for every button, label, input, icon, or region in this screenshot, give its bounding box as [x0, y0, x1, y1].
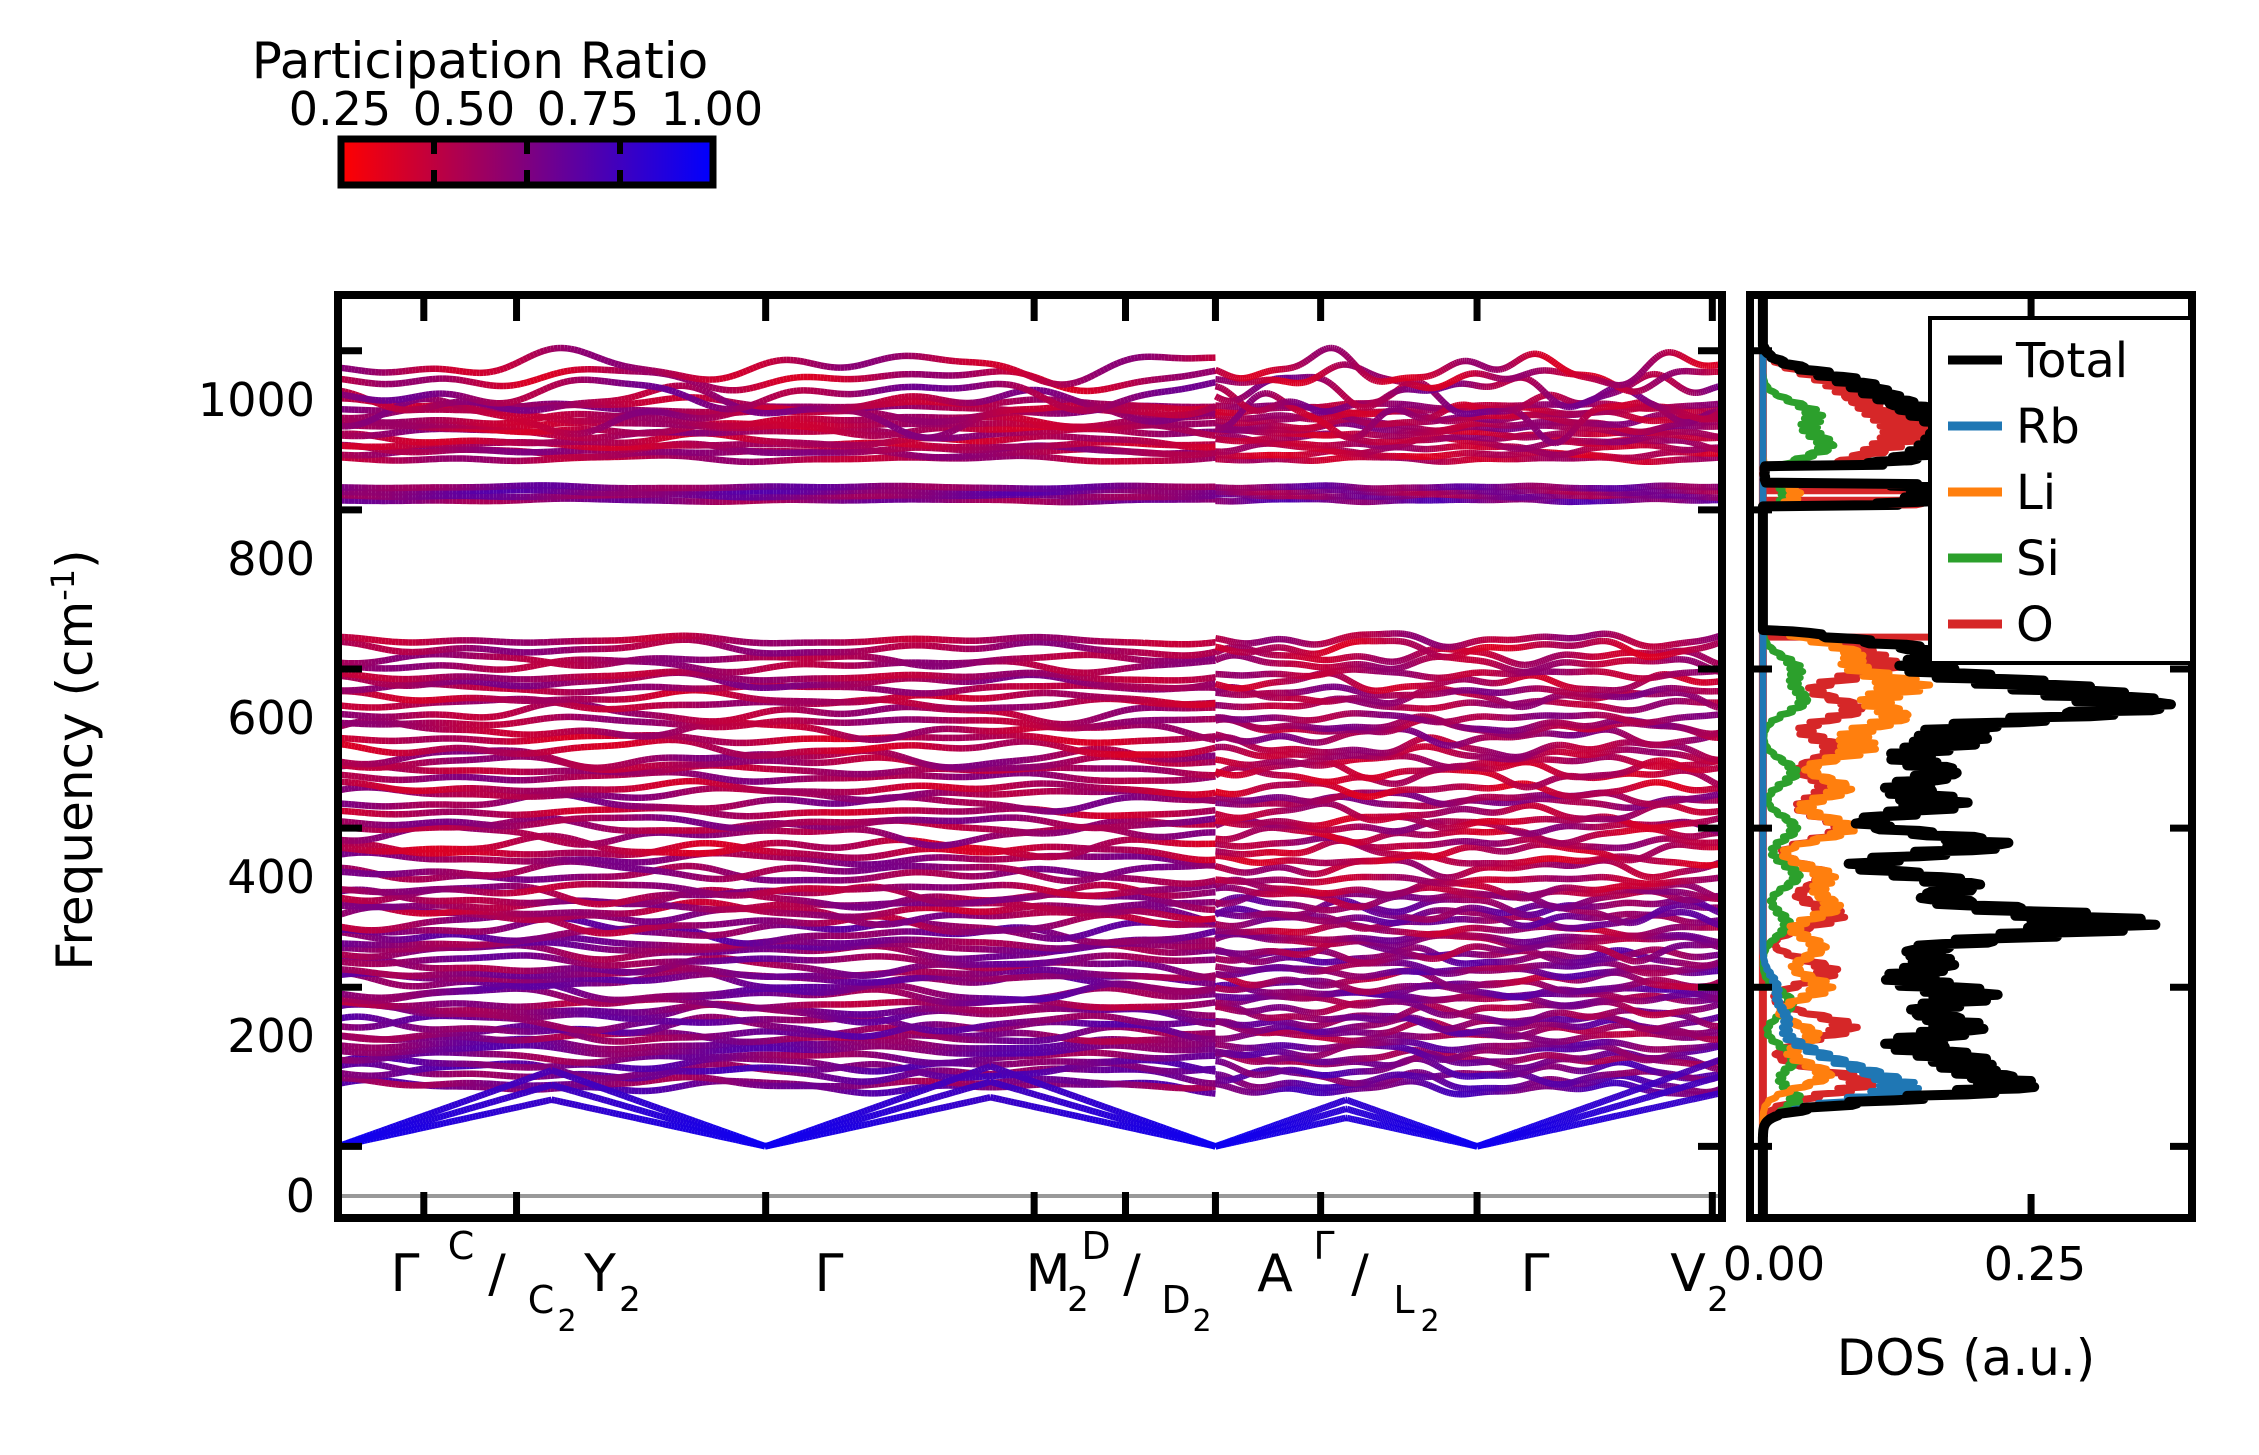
band-segment — [1087, 981, 1090, 982]
band-segment — [567, 1050, 570, 1051]
band-segment — [1182, 1017, 1185, 1018]
band-segment — [891, 1018, 894, 1019]
band-segment — [1094, 986, 1097, 987]
band-segment — [1060, 1069, 1063, 1070]
band-segment — [895, 1018, 898, 1019]
band-segment — [932, 993, 935, 994]
band-segment — [915, 1043, 918, 1044]
band-segment — [1053, 1070, 1056, 1071]
band-segment — [1053, 997, 1056, 998]
band-segment — [902, 1090, 905, 1091]
band-segment — [1134, 1021, 1137, 1022]
band-segment — [551, 1025, 554, 1026]
band-segment — [746, 984, 749, 985]
band-segment — [891, 991, 894, 992]
band-segment — [1145, 993, 1148, 994]
band-segment — [675, 1065, 678, 1066]
band-segment — [1182, 1034, 1185, 1035]
band-segment — [1070, 1034, 1073, 1035]
band-segment — [908, 1014, 911, 1015]
band-segment — [898, 1076, 901, 1077]
band-segment — [888, 1019, 891, 1020]
band-segment — [922, 1033, 925, 1034]
band-segment — [1080, 1032, 1083, 1033]
band-segment — [665, 972, 668, 973]
band-segment — [591, 1039, 594, 1040]
band-segment — [412, 1070, 415, 1071]
band-segment — [912, 1043, 915, 1044]
band-segment — [561, 1027, 564, 1028]
band-segment — [878, 1034, 881, 1035]
band-segment — [395, 1073, 398, 1074]
band-segment — [736, 981, 739, 982]
band-segment — [561, 1043, 564, 1044]
band-panel[interactable] — [338, 295, 1722, 1218]
band-segment — [817, 1075, 820, 1076]
band-segment — [1138, 1067, 1141, 1068]
band-segment — [912, 1088, 915, 1089]
band-segment — [564, 1043, 567, 1044]
band-segment — [578, 1046, 581, 1047]
band-segment — [1192, 1037, 1195, 1038]
band-segment — [915, 1013, 918, 1014]
band-segment — [1205, 1070, 1208, 1071]
band-segment — [375, 1019, 378, 1020]
band-segment — [905, 1025, 908, 1026]
band-segment — [1188, 1066, 1191, 1067]
band-segment — [345, 994, 348, 995]
band-segment — [689, 1067, 692, 1068]
band-segment — [979, 1026, 982, 1027]
band-segment — [837, 1019, 840, 1020]
band-segment — [1077, 1065, 1080, 1066]
band-segment — [1067, 1067, 1070, 1068]
band-segment — [922, 998, 925, 999]
band-segment — [908, 1067, 911, 1068]
band-segment — [905, 994, 908, 995]
band-segment — [567, 1044, 570, 1045]
band-segment — [402, 1072, 405, 1073]
band-segment — [665, 1025, 668, 1026]
band-segment — [1151, 1069, 1154, 1070]
band-segment — [821, 1076, 824, 1077]
band-segment — [530, 1021, 533, 1022]
y-axis-label-group: Frequency (cm-1) — [44, 549, 104, 970]
band-segment — [645, 1031, 648, 1032]
band-segment — [588, 995, 591, 996]
band-segment — [898, 1017, 901, 1018]
band-segment — [540, 991, 543, 992]
band-segment — [1141, 1029, 1144, 1030]
band-segment — [1195, 1021, 1198, 1022]
band-segment — [540, 1023, 543, 1024]
band-segment — [345, 1064, 348, 1065]
band-segment — [895, 1023, 898, 1024]
band-segment — [912, 1014, 915, 1015]
band-segment — [1188, 1019, 1191, 1020]
band-segment — [810, 1074, 813, 1075]
band-segment — [898, 1058, 901, 1059]
band-segment — [1151, 1031, 1154, 1032]
band-segment — [1070, 1067, 1073, 1068]
band-segment — [1145, 1030, 1148, 1031]
band-segment — [1182, 1078, 1185, 1079]
band-segment — [682, 1063, 685, 1064]
band-segment — [392, 1068, 395, 1069]
band-segment — [858, 1030, 861, 1031]
band-segment — [716, 1005, 719, 1006]
band-segment — [1185, 1018, 1188, 1019]
band-segment — [902, 1059, 905, 1060]
band-segment — [389, 983, 392, 984]
band-segment — [345, 1082, 348, 1083]
band-segment — [922, 1029, 925, 1030]
band-segment — [726, 1081, 729, 1082]
y-tick-800: 800 — [227, 532, 315, 586]
band-segment — [557, 1042, 560, 1043]
y-tick-400: 400 — [227, 850, 315, 904]
band-segment — [1087, 1030, 1090, 1031]
band-segment — [908, 1026, 911, 1027]
band-segment — [1050, 1071, 1053, 1072]
band-segment — [392, 1073, 395, 1074]
band-segment — [574, 1045, 577, 1046]
band-segment — [851, 1069, 854, 1070]
band-segment — [399, 1055, 402, 1056]
band-segment — [821, 1016, 824, 1017]
band-segment — [378, 1065, 381, 1066]
band-segment — [372, 1018, 375, 1019]
band-segment — [665, 1066, 668, 1067]
band-segment — [1202, 1092, 1205, 1093]
band-segment — [706, 1003, 709, 1004]
band-segment — [837, 1067, 840, 1068]
band-segment — [1047, 1035, 1050, 1036]
band-segment — [935, 1001, 938, 1002]
band-segment — [571, 1033, 574, 1034]
band-segment — [918, 1012, 921, 1013]
band-segment — [628, 1024, 631, 1025]
band-segment — [1178, 1016, 1181, 1017]
band-segment — [1091, 981, 1094, 982]
band-segment — [915, 1071, 918, 1072]
band-segment — [824, 1033, 827, 1034]
band-segment — [1178, 1064, 1181, 1065]
band-segment — [395, 1056, 398, 1057]
band-segment — [898, 1029, 901, 1030]
band-segment — [932, 1035, 935, 1036]
band-segment — [915, 1028, 918, 1029]
band-segment — [713, 1004, 716, 1005]
band-segment — [726, 978, 729, 979]
band-segment — [378, 980, 381, 981]
band-segment — [743, 983, 746, 984]
band-segment — [399, 1021, 402, 1022]
band-segment — [551, 993, 554, 994]
band-segment — [1091, 1029, 1094, 1030]
band-segment — [632, 1024, 635, 1025]
band-segment — [1124, 990, 1127, 991]
band-segment — [402, 1020, 405, 1021]
band-segment — [1050, 1039, 1053, 1040]
band-segment — [378, 1025, 381, 1026]
band-segment — [935, 1036, 938, 1037]
band-segment — [581, 1036, 584, 1037]
band-segment — [723, 1080, 726, 1081]
band-segment — [591, 996, 594, 997]
band-segment — [1185, 1066, 1188, 1067]
band-segment — [925, 1034, 928, 1035]
band-segment — [935, 993, 938, 994]
band-segment — [824, 1064, 827, 1065]
band-segment — [395, 984, 398, 985]
band-segment — [709, 1004, 712, 1005]
band-segment — [571, 1044, 574, 1045]
band-segment — [1050, 998, 1053, 999]
band-segment — [385, 1024, 388, 1025]
band-segment — [841, 1068, 844, 1069]
band-segment — [895, 1077, 898, 1078]
band-segment — [1141, 1068, 1144, 1069]
band-segment — [1067, 1035, 1070, 1036]
band-segment — [905, 1089, 908, 1090]
band-segment — [1131, 1066, 1134, 1067]
band-segment — [578, 1000, 581, 1001]
band-segment — [1185, 1079, 1188, 1080]
band-segment — [966, 1029, 969, 1030]
band-segment — [942, 1037, 945, 1038]
band-segment — [557, 1027, 560, 1028]
band-segment — [851, 1031, 854, 1032]
colorbar-tick-2: 0.75 — [537, 82, 639, 136]
band-segment — [581, 993, 584, 994]
band-segment — [696, 1018, 699, 1019]
band-segment — [605, 1029, 608, 1030]
band-segment — [547, 1024, 550, 1025]
band-segment — [827, 1077, 830, 1078]
band-segment — [1165, 1030, 1168, 1031]
band-segment — [1138, 992, 1141, 993]
band-segment — [1168, 1062, 1171, 1063]
band-segment — [929, 999, 932, 1000]
band-segment — [891, 1066, 894, 1067]
band-segment — [372, 1081, 375, 1082]
band-segment — [399, 1072, 402, 1073]
band-segment — [652, 1029, 655, 1030]
band-segment — [672, 1065, 675, 1066]
band-segment — [881, 1021, 884, 1022]
band-segment — [1161, 1029, 1164, 1030]
band-segment — [888, 1065, 891, 1066]
band-segment — [412, 1027, 415, 1028]
band-segment — [1080, 990, 1083, 991]
band-segment — [902, 1024, 905, 1025]
band-segment — [918, 997, 921, 998]
band-segment — [1131, 1020, 1134, 1021]
band-segment — [733, 1082, 736, 1083]
band-segment — [564, 988, 567, 989]
band-segment — [392, 984, 395, 985]
band-segment — [1067, 994, 1070, 995]
band-segment — [561, 1049, 564, 1050]
band-segment — [834, 1078, 837, 1079]
band-segment — [1064, 1036, 1067, 1037]
band-segment — [918, 989, 921, 990]
band-segment — [824, 1016, 827, 1017]
band-segment — [409, 1071, 412, 1072]
band-segment — [942, 995, 945, 996]
band-segment — [699, 1002, 702, 1003]
band-segment — [905, 987, 908, 988]
band-segment — [827, 1065, 830, 1066]
band-segment — [1195, 1068, 1198, 1069]
band-segment — [574, 1051, 577, 1052]
band-segment — [1138, 1022, 1141, 1023]
band-segment — [1175, 1076, 1178, 1077]
band-segment — [675, 1087, 678, 1088]
band-segment — [574, 1000, 577, 1001]
band-segment — [554, 1026, 557, 1027]
band-segment — [702, 1003, 705, 1004]
band-segment — [1087, 988, 1090, 989]
band-segment — [686, 1085, 689, 1086]
band-segment — [908, 987, 911, 988]
band-segment — [1195, 1081, 1198, 1082]
band-segment — [632, 1075, 635, 1076]
band-segment — [925, 1045, 928, 1046]
band-segment — [1134, 991, 1137, 992]
band-segment — [392, 1056, 395, 1057]
band-segment — [692, 1018, 695, 1019]
band-segment — [554, 1041, 557, 1042]
band-segment — [574, 991, 577, 992]
band-segment — [1074, 992, 1077, 993]
band-segment — [1128, 1020, 1131, 1021]
band-segment — [750, 985, 753, 986]
band-segment — [584, 1037, 587, 1038]
band-segment — [534, 1021, 537, 1022]
band-segment — [925, 991, 928, 992]
band-segment — [385, 1057, 388, 1058]
band-segment — [635, 1074, 638, 1075]
band-segment — [669, 1009, 672, 1010]
band-segment — [932, 1000, 935, 1001]
band-segment — [1114, 1017, 1117, 1018]
band-segment — [561, 996, 564, 997]
y-tick-0: 0 — [286, 1169, 315, 1223]
band-segment — [1070, 1043, 1073, 1044]
band-segment — [1195, 1038, 1198, 1039]
band-segment — [655, 1016, 658, 1017]
band-segment — [1138, 1029, 1141, 1030]
band-segment — [841, 1020, 844, 1021]
band-segment — [1141, 993, 1144, 994]
band-segment — [648, 1030, 651, 1031]
band-segment — [635, 1023, 638, 1024]
band-segment — [1192, 1067, 1195, 1068]
band-segment — [665, 1014, 668, 1015]
band-segment — [898, 1069, 901, 1070]
band-segment — [662, 973, 665, 974]
band-segment — [1077, 1033, 1080, 1034]
band-segment — [692, 1084, 695, 1085]
band-segment — [1094, 1029, 1097, 1030]
band-segment — [1192, 1080, 1195, 1081]
band-segment — [888, 1057, 891, 1058]
band-segment — [1091, 987, 1094, 988]
band-segment — [902, 1068, 905, 1069]
band-segment — [672, 1008, 675, 1009]
band-segment — [375, 1064, 378, 1065]
band-segment — [888, 1032, 891, 1033]
band-segment — [567, 998, 570, 999]
band-segment — [831, 1034, 834, 1035]
band-segment — [557, 1048, 560, 1049]
band-segment — [1148, 1069, 1151, 1070]
band-segment — [696, 1083, 699, 1084]
band-segment — [915, 1066, 918, 1067]
band-segment — [1199, 1082, 1202, 1083]
band-segment — [898, 1023, 901, 1024]
band-segment — [719, 1080, 722, 1081]
band-segment — [662, 1014, 665, 1015]
band-segment — [844, 1068, 847, 1069]
band-segment — [969, 1028, 972, 1029]
band-segment — [827, 1033, 830, 1034]
band-segment — [669, 1088, 672, 1089]
band-segment — [888, 1078, 891, 1079]
band-segment — [375, 979, 378, 980]
band-segment — [1010, 1026, 1013, 1027]
band-segment — [368, 978, 371, 979]
band-segment — [385, 982, 388, 983]
band-segment — [1060, 995, 1063, 996]
band-segment — [834, 1066, 837, 1067]
band-segment — [932, 1075, 935, 1076]
band-segment — [608, 1028, 611, 1029]
band-segment — [659, 1027, 662, 1028]
band-segment — [672, 1087, 675, 1088]
band-segment — [625, 1076, 628, 1077]
band-segment — [831, 1078, 834, 1079]
band-segment — [1128, 1065, 1131, 1066]
band-segment — [696, 1061, 699, 1062]
band-segment — [665, 1089, 668, 1090]
band-segment — [1158, 1028, 1161, 1029]
band-segment — [389, 1067, 392, 1068]
band-segment — [584, 1002, 587, 1003]
band-segment — [1084, 980, 1087, 981]
band-segment — [908, 1074, 911, 1075]
band-segment — [638, 1023, 641, 1024]
band-segment — [1074, 1066, 1077, 1067]
band-segment — [1047, 1071, 1050, 1072]
band-segment — [584, 1077, 587, 1078]
band-segment — [885, 1056, 888, 1057]
band-segment — [395, 1068, 398, 1069]
band-segment — [983, 1026, 986, 1027]
band-segment — [486, 988, 489, 989]
band-segment — [1070, 993, 1073, 994]
band-segment — [831, 1066, 834, 1067]
band-segment — [581, 1076, 584, 1077]
band-segment — [1155, 1031, 1158, 1032]
band-segment — [655, 975, 658, 976]
band-segment — [1175, 1032, 1178, 1033]
band-segment — [665, 1009, 668, 1010]
band-segment — [392, 1022, 395, 1023]
band-segment — [861, 1029, 864, 1030]
